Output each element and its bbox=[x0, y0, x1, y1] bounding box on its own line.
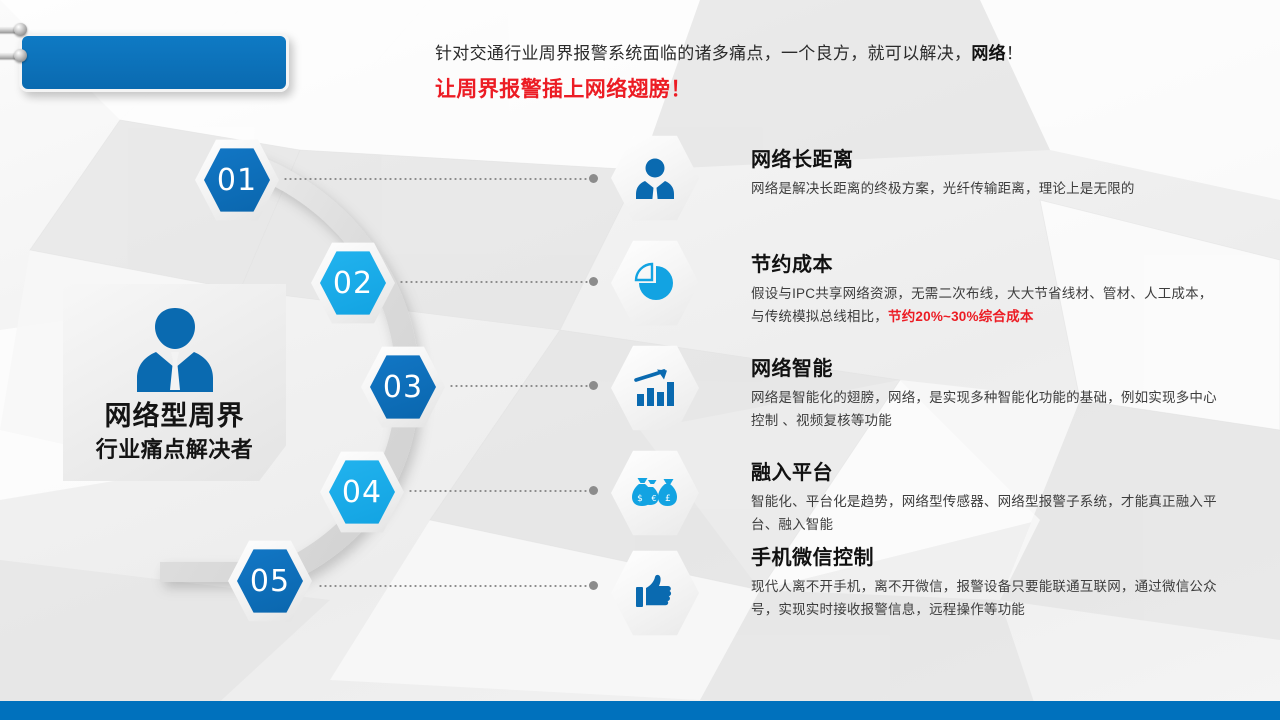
feature-body-text-01: 网络是解决长距离的终极方案，光纤传输距离，理论上是无限的 bbox=[751, 181, 1135, 196]
feature-title-01: 网络长距离 bbox=[751, 143, 1221, 172]
slide-canvas: 针对交通行业周界报警系统面临的诸多痛点，一个良方，就可以解决，网络！ 让周界报警… bbox=[0, 0, 1280, 720]
pie-chart-icon bbox=[634, 262, 676, 304]
step-number-label: 05 bbox=[250, 564, 290, 599]
feature-title-04: 融入平台 bbox=[751, 456, 1221, 485]
feature-block-02: 节约成本 假设与IPC共享网络资源，无需二次布线，大大节省线材、管材、人工成本，… bbox=[751, 248, 1221, 328]
header-line-2: 让周界报警插上网络翅膀！ bbox=[435, 74, 1225, 106]
feature-body-04: 智能化、平台化是趋势，网络型传感器、网络型报警子系统，才能真正融入平台、融入智能 bbox=[751, 490, 1221, 536]
title-card-line-1: 网络型周界 bbox=[63, 394, 286, 433]
step-number-label: 04 bbox=[342, 475, 382, 510]
step-number-label: 03 bbox=[383, 370, 423, 405]
header-line-1-before: 针对交通行业周界报警系统面临的诸多痛点，一个良方，就可以解决， bbox=[435, 44, 971, 63]
step-number-hex-01[interactable]: 01 bbox=[195, 138, 279, 222]
step-number-label: 01 bbox=[217, 163, 257, 198]
hex-icon-slot bbox=[611, 549, 699, 637]
feature-body-text-03: 网络是智能化的翅膀，网络，是实现多种智能化功能的基础，例如实现多中心控制 、视频… bbox=[751, 390, 1217, 428]
step-number-label: 02 bbox=[333, 266, 373, 301]
title-card: 网络型周界 行业痛点解决者 bbox=[63, 284, 286, 481]
feature-body-text-05: 现代人离不开手机，离不开微信，报警设备只要能联通互联网，通过微信公众号，实现实时… bbox=[751, 579, 1217, 617]
feature-body-text-04: 智能化、平台化是趋势，网络型传感器、网络型报警子系统，才能真正融入平台、融入智能 bbox=[751, 494, 1217, 532]
bar-chart-growth-icon bbox=[633, 368, 677, 408]
title-card-line-2: 行业痛点解决者 bbox=[63, 432, 286, 464]
feature-title-05: 手机微信控制 bbox=[751, 541, 1221, 570]
connector-dotted-line-01 bbox=[283, 178, 588, 180]
connector-end-dot-01 bbox=[589, 174, 598, 183]
feature-body-02: 假设与IPC共享网络资源，无需二次布线，大大节省线材、管材、人工成本，与传统模拟… bbox=[751, 282, 1221, 328]
money-bags-icon: $ € £ bbox=[631, 476, 679, 510]
connector-dotted-line-03 bbox=[449, 385, 588, 387]
businessman-icon bbox=[132, 302, 218, 394]
step-number-hex-02[interactable]: 02 bbox=[311, 241, 395, 325]
connector-dotted-line-05 bbox=[318, 585, 588, 587]
svg-text:$: $ bbox=[637, 494, 643, 504]
svg-text:£: £ bbox=[665, 494, 671, 504]
feature-block-04: 融入平台 智能化、平台化是趋势，网络型传感器、网络型报警子系统，才能真正融入平台… bbox=[751, 456, 1221, 536]
header-line-1: 针对交通行业周界报警系统面临的诸多痛点，一个良方，就可以解决，网络！ bbox=[435, 40, 1225, 68]
step-number-hex-05[interactable]: 05 bbox=[228, 539, 312, 623]
binder-ring-icon-1 bbox=[0, 26, 24, 33]
feature-icon-hex-04[interactable]: $ € £ bbox=[611, 449, 699, 537]
connector-end-dot-05 bbox=[589, 581, 598, 590]
feature-body-01: 网络是解决长距离的终极方案，光纤传输距离，理论上是无限的 bbox=[751, 177, 1221, 200]
feature-title-02: 节约成本 bbox=[751, 248, 1221, 277]
thumbs-up-icon bbox=[634, 572, 676, 614]
feature-icon-hex-05[interactable] bbox=[611, 549, 699, 637]
connector-dotted-line-04 bbox=[408, 490, 588, 492]
binder-ring-icon-2 bbox=[0, 52, 24, 59]
feature-icon-hex-02[interactable] bbox=[611, 239, 699, 327]
header-line-1-after: ！ bbox=[1006, 44, 1023, 63]
hex-icon-slot: $ € £ bbox=[611, 449, 699, 537]
header-text-group: 针对交通行业周界报警系统面临的诸多痛点，一个良方，就可以解决，网络！ 让周界报警… bbox=[435, 40, 1225, 106]
feature-block-05: 手机微信控制 现代人离不开手机，离不开微信，报警设备只要能联通互联网，通过微信公… bbox=[751, 541, 1221, 621]
connector-end-dot-02 bbox=[589, 277, 598, 286]
connector-end-dot-03 bbox=[589, 381, 598, 390]
feature-highlight-02: 节约20%~30%综合成本 bbox=[888, 309, 1034, 324]
step-number-hex-04[interactable]: 04 bbox=[320, 450, 404, 534]
bottom-accent-bar bbox=[0, 701, 1280, 720]
connector-dotted-line-02 bbox=[399, 281, 588, 283]
feature-icon-hex-03[interactable] bbox=[611, 344, 699, 432]
feature-body-03: 网络是智能化的翅膀，网络，是实现多种智能化功能的基础，例如实现多中心控制 、视频… bbox=[751, 386, 1221, 432]
feature-block-01: 网络长距离 网络是解决长距离的终极方案，光纤传输距离，理论上是无限的 bbox=[751, 143, 1221, 200]
step-number-hex-03[interactable]: 03 bbox=[361, 345, 445, 429]
feature-icon-hex-01[interactable] bbox=[611, 134, 699, 222]
feature-title-03: 网络智能 bbox=[751, 352, 1221, 381]
hex-icon-slot bbox=[611, 134, 699, 222]
hex-icon-slot bbox=[611, 239, 699, 327]
feature-block-03: 网络智能 网络是智能化的翅膀，网络，是实现多种智能化功能的基础，例如实现多中心控… bbox=[751, 352, 1221, 432]
svg-text:€: € bbox=[651, 494, 656, 503]
connector-end-dot-04 bbox=[589, 486, 598, 495]
header-line-1-bold: 网络 bbox=[971, 44, 1006, 63]
hex-icon-slot bbox=[611, 344, 699, 432]
businessman-icon bbox=[635, 157, 675, 199]
feature-body-05: 现代人离不开手机，离不开微信，报警设备只要能联通互联网，通过微信公众号，实现实时… bbox=[751, 575, 1221, 621]
top-left-blue-tab[interactable] bbox=[19, 33, 289, 92]
